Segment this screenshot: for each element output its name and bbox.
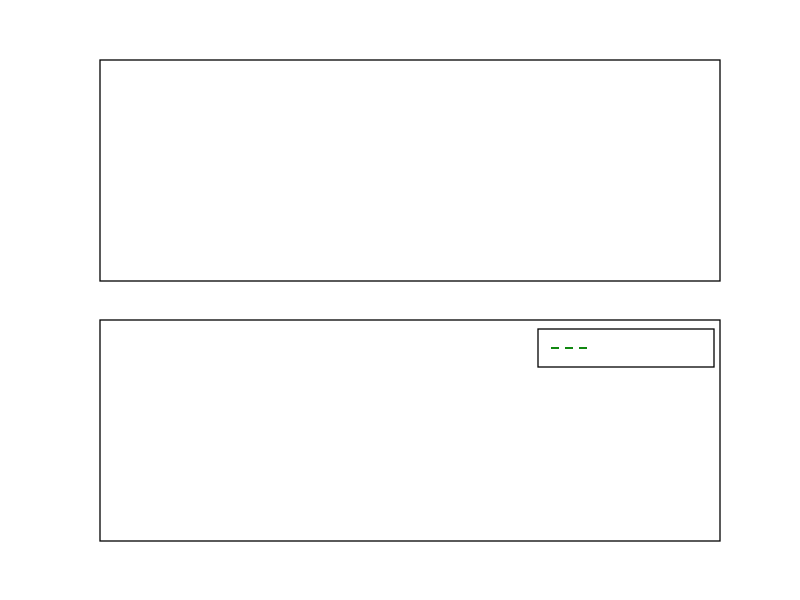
legend-frame (538, 329, 714, 367)
legend[interactable] (538, 329, 714, 367)
bottom-axes (0, 0, 720, 541)
top-axes (100, 60, 720, 281)
top-plot-frame (100, 60, 720, 281)
matplotlib-figure (0, 0, 800, 600)
figure-canvas (0, 0, 800, 600)
